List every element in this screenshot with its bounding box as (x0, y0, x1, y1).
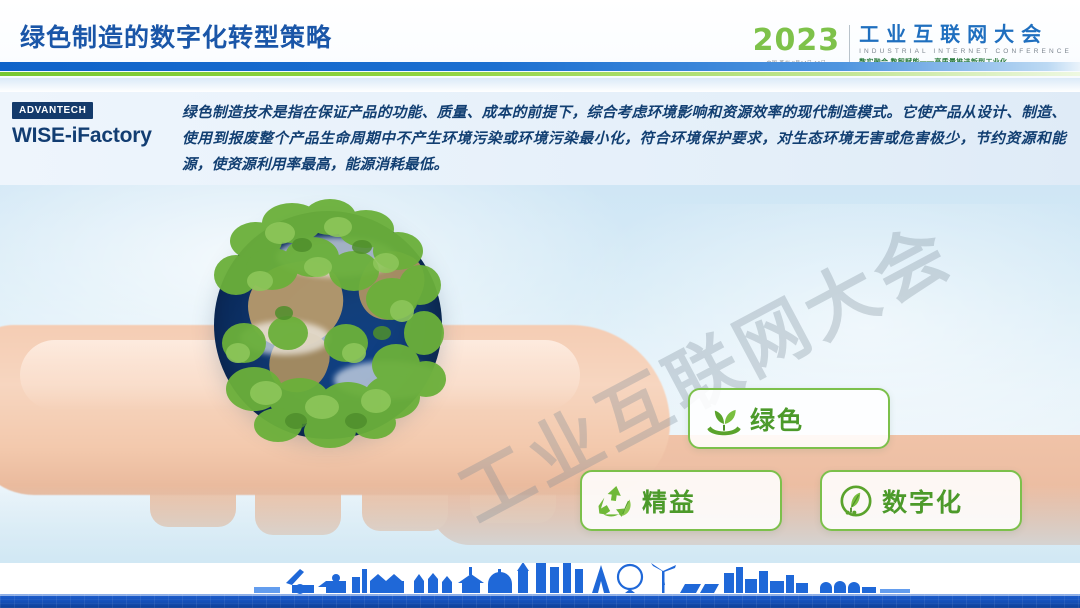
sprout-in-hand-icon (704, 399, 744, 439)
pillar-badge-lean[interactable]: 精益 (580, 470, 782, 531)
pillar-badge-digital[interactable]: 数字化 (820, 470, 1022, 531)
header-green-rule (0, 72, 1080, 76)
conference-name-block: 工业互联网大会 INDUSTRIAL INTERNET CONFERENCE 数… (850, 24, 1072, 67)
intro-paragraph: 绿色制造技术是指在保证产品的功能、质量、成本的前提下，综合考虑环境影响和资源效率… (182, 100, 1066, 178)
conference-name-en: INDUSTRIAL INTERNET CONFERENCE (859, 48, 1072, 55)
recycle-leaf-icon (596, 481, 636, 521)
product-name: WISE-iFactory (12, 124, 164, 148)
main-visual-stage: 工业互联网大会 绿色 精益 (0, 185, 1080, 563)
pillar-label: 精益 (642, 483, 696, 519)
footer-grid-pattern (0, 594, 1080, 608)
pillar-label: 绿色 (750, 401, 804, 437)
brand-logo: ADVANTECH WISE-iFactory (12, 100, 164, 148)
green-earth-image (196, 193, 456, 468)
header-fade (0, 78, 1080, 92)
pillar-badge-green[interactable]: 绿色 (688, 388, 890, 449)
conference-logo: 2023 中国·苏州 8月14日-16日 工业互联网大会 INDUSTRIAL … (753, 24, 1072, 67)
slide-root: 绿色制造的数字化转型策略 2023 中国·苏州 8月14日-16日 工业互联网大… (0, 0, 1080, 608)
conference-year: 2023 (753, 26, 841, 56)
advantech-badge: ADVANTECH (12, 102, 93, 119)
conference-year-block: 2023 中国·苏州 8月14日-16日 (753, 26, 850, 66)
page-title: 绿色制造的数字化转型策略 (20, 18, 332, 54)
pillar-label: 数字化 (882, 483, 963, 519)
circular-leaf-plug-icon (836, 481, 876, 521)
slide-header: 绿色制造的数字化转型策略 2023 中国·苏州 8月14日-16日 工业互联网大… (0, 0, 1080, 92)
slide-footer (0, 563, 1080, 608)
header-blue-rule (0, 62, 1080, 71)
footer-ground-band (0, 594, 1080, 608)
conference-name-cn: 工业互联网大会 (859, 24, 1072, 46)
industrial-skyline-icon (0, 563, 1080, 595)
globe-foliage-icon (196, 193, 456, 461)
intro-strip: ADVANTECH WISE-iFactory 绿色制造技术是指在保证产品的功能… (0, 92, 1080, 185)
